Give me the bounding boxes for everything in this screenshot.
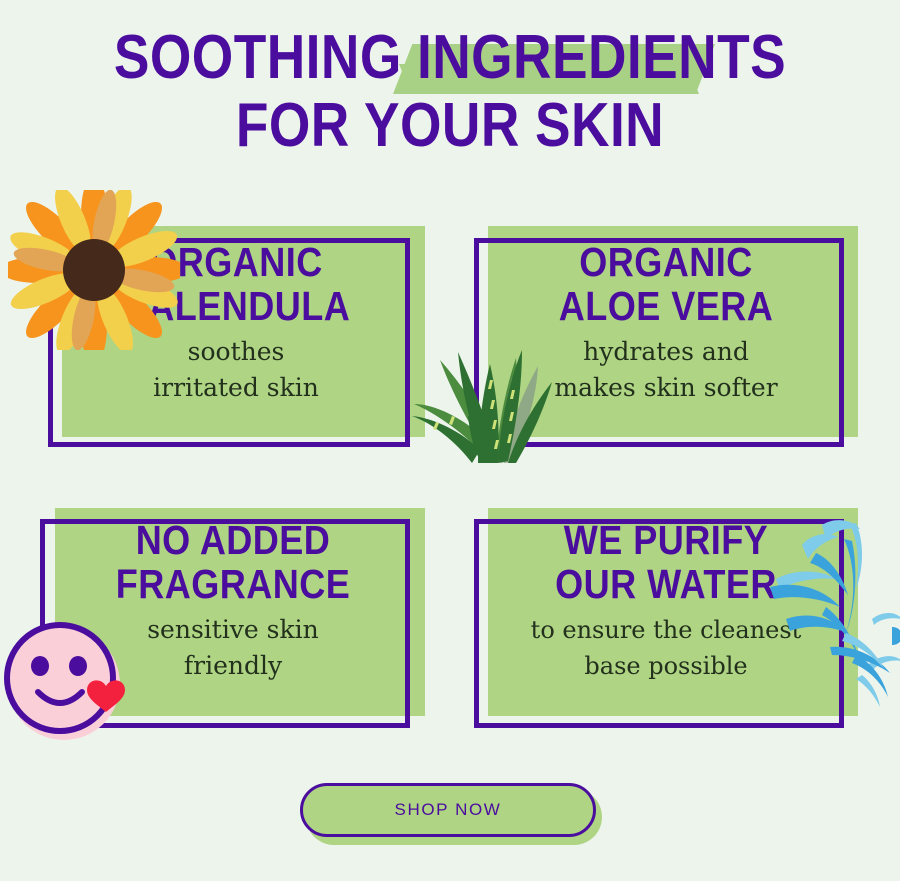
card-heading-line-1: NO ADDED [76, 518, 389, 562]
card-text-block: ORGANIC ALOE VERA hydrates and makes ski… [488, 240, 844, 406]
card-sub-line-2: base possible [488, 648, 844, 684]
card-sub-line-1: sensitive skin [55, 612, 411, 648]
card-heading-line-1: ORGANIC [83, 240, 389, 284]
card-sub-line-1: to ensure the cleanest [488, 612, 844, 648]
card-heading-line-1: ORGANIC [509, 240, 822, 284]
card-sub-line-2: makes skin softer [488, 370, 844, 406]
page-title: SOOTHING INGREDIENTS FOR YOUR SKIN [0, 24, 900, 160]
card-heading-line-2: OUR WATER [509, 562, 822, 606]
title-line-2: FOR YOUR SKIN [63, 92, 837, 160]
card-heading-line-2: FRAGRANCE [76, 562, 389, 606]
card-text-block: NO ADDED FRAGRANCE sensitive skin friend… [55, 518, 411, 684]
card-sub-line-1: hydrates and [488, 334, 844, 370]
card-sub-line-2: friendly [55, 648, 411, 684]
card-heading-line-2: CALENDULA [83, 284, 389, 328]
card-sub-line-1: soothes [62, 334, 410, 370]
infographic-poster: SOOTHING INGREDIENTS FOR YOUR SKIN ORGAN… [0, 0, 900, 881]
card-sub-line-2: irritated skin [62, 370, 410, 406]
card-text-block: WE PURIFY OUR WATER to ensure the cleane… [488, 518, 844, 684]
card-text-block: ORGANIC CALENDULA soothes irritated skin [62, 240, 410, 406]
title-line-1: SOOTHING INGREDIENTS [63, 24, 837, 92]
card-heading-line-2: ALOE VERA [509, 284, 822, 328]
card-heading-line-1: WE PURIFY [509, 518, 822, 562]
shop-now-button[interactable]: SHOP NOW [300, 783, 596, 837]
